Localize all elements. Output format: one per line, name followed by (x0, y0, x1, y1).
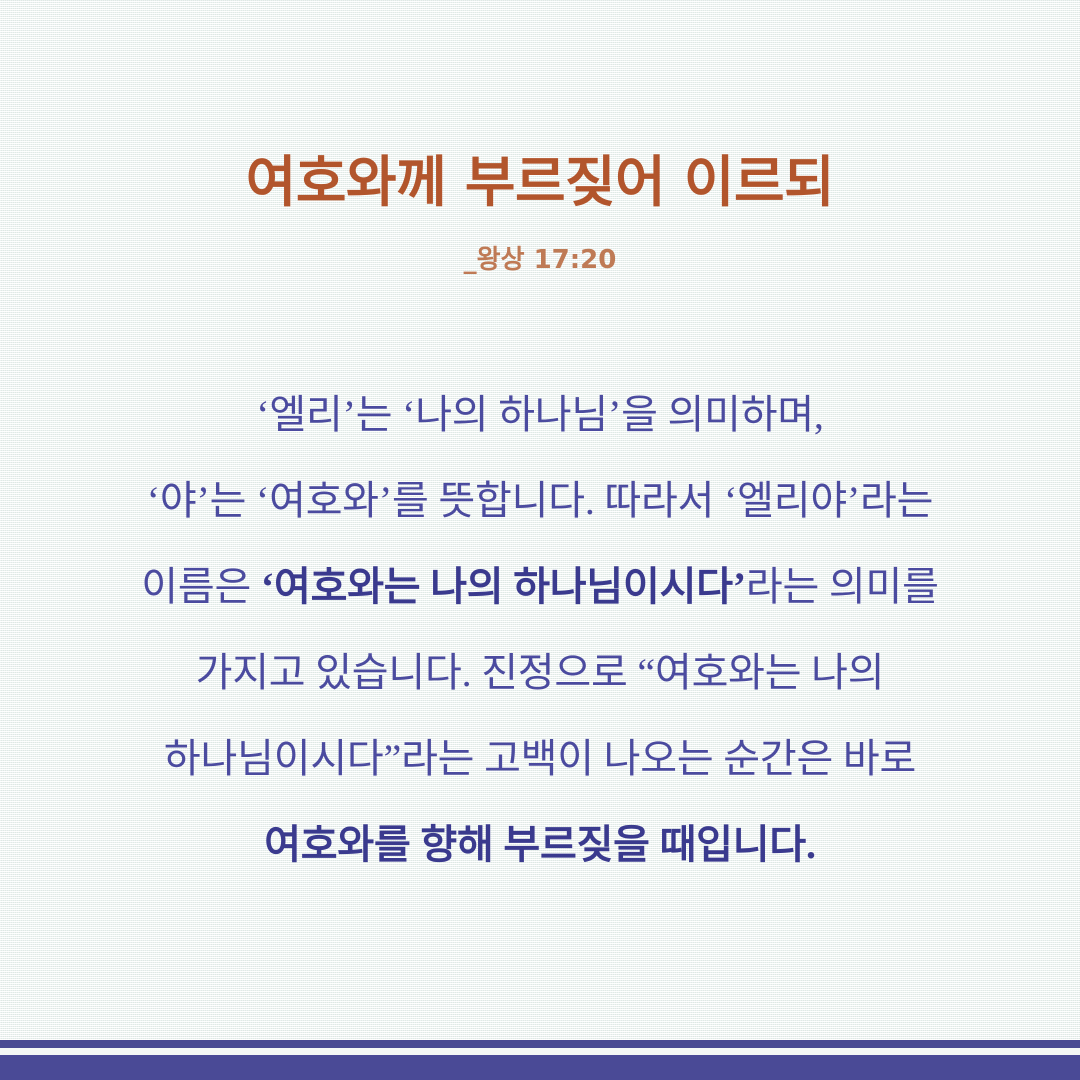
body-segment-emphasis: 여호와를 향해 부르짖을 때입니다. (264, 822, 816, 867)
footer-bar-gap (0, 1048, 1080, 1055)
body-line: ‘야’는 ‘여호와’를 뜻합니다. 따라서 ‘엘리야’라는 (0, 458, 1080, 544)
body-line: 이름은 ‘여호와는 나의 하나님이시다’라는 의미를 (0, 544, 1080, 630)
page-title: 여호와께 부르짖어 이르되 (0, 0, 1080, 214)
devotional-card: 여호와께 부르짖어 이르되 _왕상 17:20 ‘엘리’는 ‘나의 하나님’을 … (0, 0, 1080, 1080)
body-segment: 하나님이시다”라는 고백이 나오는 순간은 바로 (164, 736, 916, 781)
body-segment: 라는 의미를 (746, 564, 939, 609)
header-block: 여호와께 부르짖어 이르되 _왕상 17:20 (0, 0, 1080, 276)
footer-bar-thick (0, 1055, 1080, 1080)
footer-bar-thin (0, 1040, 1080, 1048)
body-line: 하나님이시다”라는 고백이 나오는 순간은 바로 (0, 716, 1080, 802)
body-line: 여호와를 향해 부르짖을 때입니다. (0, 802, 1080, 888)
footer-decoration (0, 1040, 1080, 1080)
body-line: ‘엘리’는 ‘나의 하나님’을 의미하며, (0, 372, 1080, 458)
body-segment: 이름은 (141, 564, 261, 609)
body-segment-emphasis: ‘여호와는 나의 하나님이시다’ (261, 564, 746, 609)
scripture-reference: _왕상 17:20 (0, 214, 1080, 276)
body-segment: ‘엘리’는 ‘나의 하나님’을 의미하며, (256, 392, 823, 437)
body-segment: 가지고 있습니다. 진정으로 “여호와는 나의 (196, 650, 885, 695)
body-segment: ‘야’는 ‘여호와’를 뜻합니다. 따라서 ‘엘리야’라는 (147, 478, 934, 523)
body-text-block: ‘엘리’는 ‘나의 하나님’을 의미하며, ‘야’는 ‘여호와’를 뜻합니다. … (0, 372, 1080, 888)
body-line: 가지고 있습니다. 진정으로 “여호와는 나의 (0, 630, 1080, 716)
